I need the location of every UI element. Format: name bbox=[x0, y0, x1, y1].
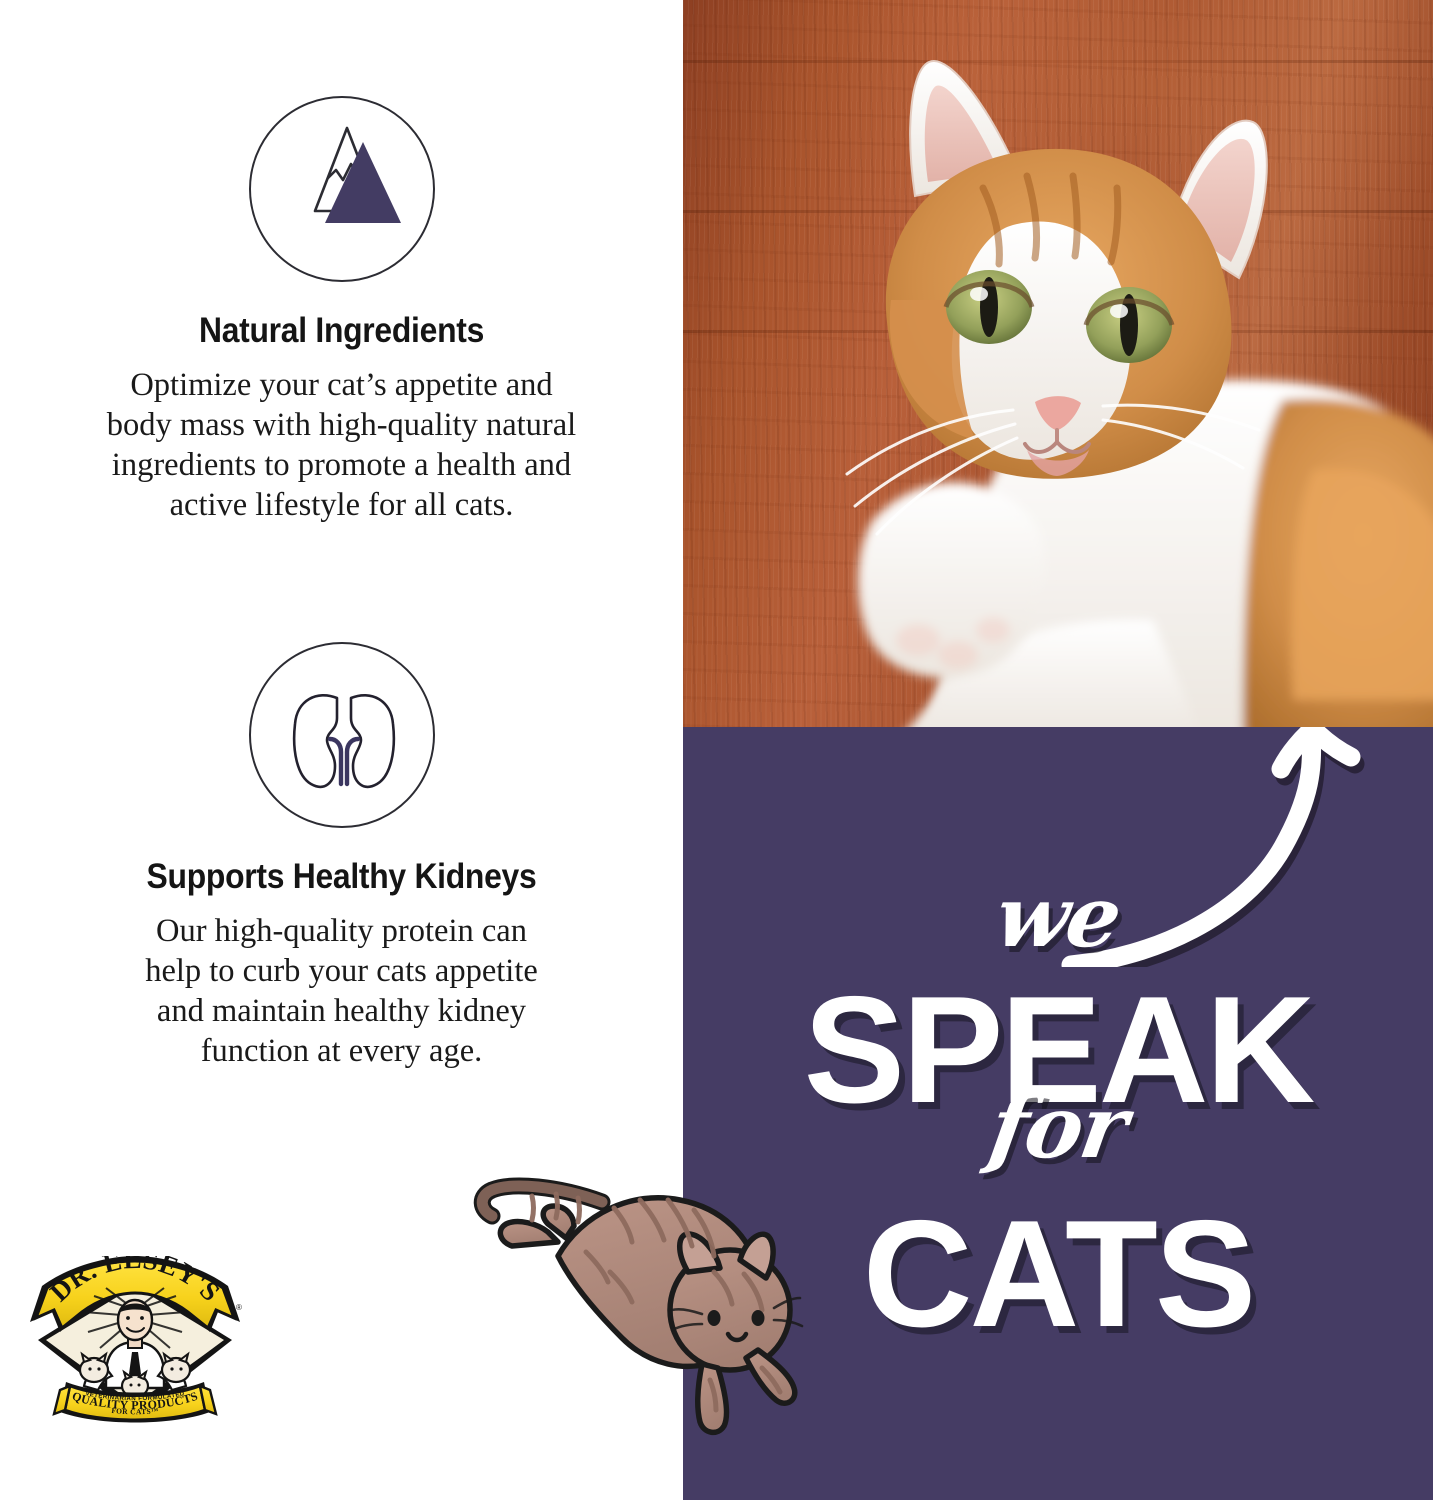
feature-body-line: Optimize your cat’s appetite and bbox=[22, 365, 662, 405]
cat-photo-subject bbox=[683, 0, 1433, 727]
feature-body-line: ingredients to promote a health and bbox=[22, 445, 662, 485]
feature-body-line: Our high-quality protein can bbox=[22, 911, 662, 951]
leaping-tabby-cat-illustration bbox=[462, 1168, 842, 1438]
orange-white-cat-photo bbox=[683, 0, 1433, 727]
feature-body-line: and maintain healthy kidney bbox=[22, 991, 662, 1031]
feature-body-line: body mass with high-quality natural bbox=[22, 405, 662, 445]
logo-registered-mark: ® bbox=[236, 1303, 242, 1312]
feature-title: Supports Healthy Kidneys bbox=[31, 857, 653, 897]
feature-body-line: function at every age. bbox=[22, 1031, 662, 1071]
slogan-line-speak: SPEAK bbox=[683, 963, 1433, 1138]
feature-block-natural-ingredients: Natural Ingredients Optimize your cat’s … bbox=[0, 96, 683, 526]
curved-up-arrow-icon bbox=[683, 727, 1433, 967]
kidneys-icon bbox=[249, 642, 435, 828]
feature-body-line: help to curb your cats appetite bbox=[22, 951, 662, 991]
feature-block-supports-healthy-kidneys: Supports Healthy Kidneys Our high-qualit… bbox=[0, 642, 683, 1072]
dr-elseys-logo: DR. ELSEY'S ® bbox=[22, 1256, 248, 1434]
feature-title: Natural Ingredients bbox=[31, 311, 653, 351]
mountain-icon bbox=[249, 96, 435, 282]
feature-body: Our high-quality protein can help to cur… bbox=[22, 911, 662, 1072]
feature-body-line: active lifestyle for all cats. bbox=[22, 485, 662, 525]
svg-text:FOR CATS™: FOR CATS™ bbox=[111, 1406, 159, 1416]
feature-body: Optimize your cat’s appetite and body ma… bbox=[22, 365, 662, 526]
logo-banner-line-3: FOR CATS™ bbox=[111, 1406, 159, 1416]
